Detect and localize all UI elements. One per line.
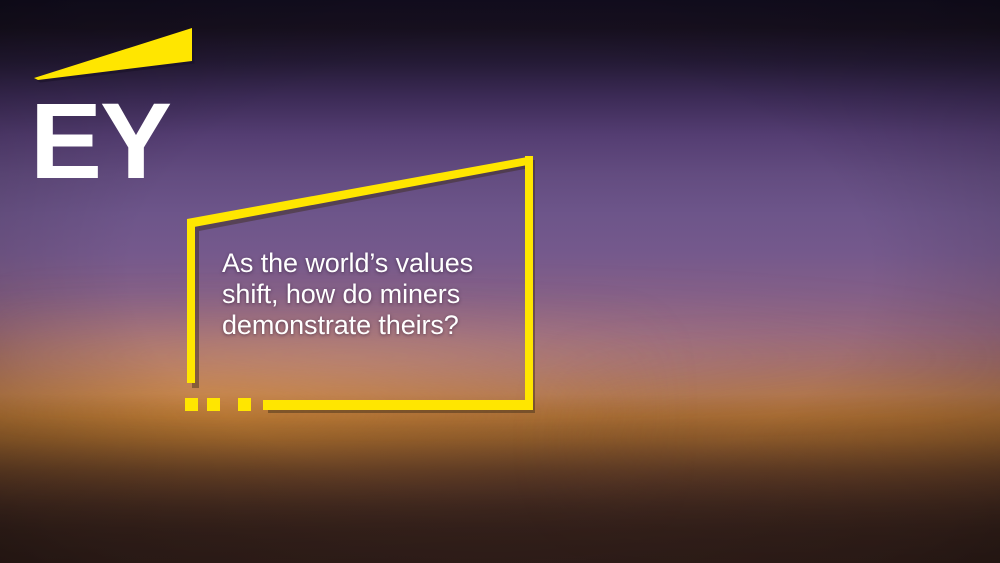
callout-box: As the world’s values shift, how do mine…: [170, 135, 560, 425]
ey-wordmark-text: EY: [30, 98, 171, 190]
callout-headline: As the world’s values shift, how do mine…: [222, 248, 522, 341]
frame-dash-2: [207, 398, 220, 411]
frame-dash-1: [185, 398, 198, 411]
slide-canvas: EY: [0, 0, 1000, 563]
yellow-beam-icon: [30, 22, 205, 88]
frame-dash-3: [238, 398, 251, 411]
